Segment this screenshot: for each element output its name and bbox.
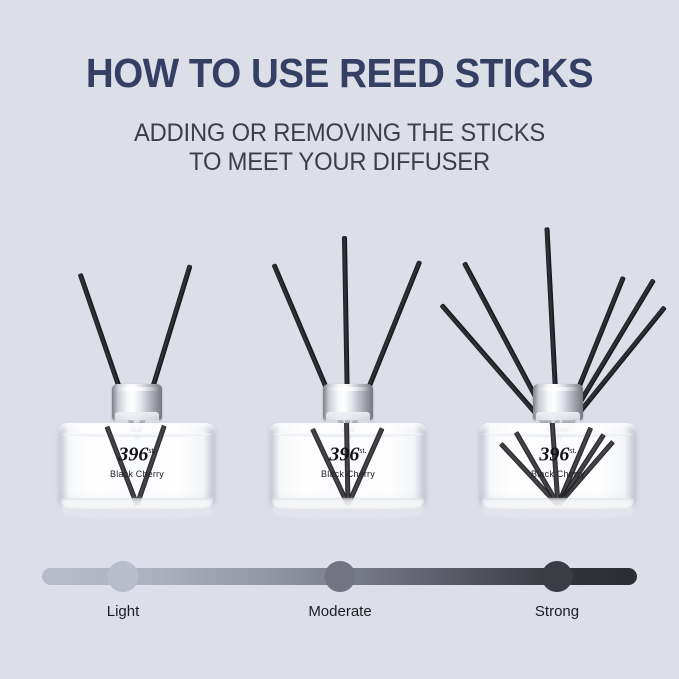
scale-knob-strong[interactable] (542, 561, 573, 592)
diffuser-bottle: 396st. Black Cherry (269, 417, 427, 521)
submerged-reed-stick (135, 425, 167, 506)
submerged-reed-stick (556, 440, 615, 507)
diffuser-bottle: 396st. Black Cherry (58, 417, 216, 521)
submerged-reed-stick (105, 426, 140, 506)
intensity-scale: Light Moderate Strong (0, 555, 679, 641)
bottle-reflection (483, 499, 633, 521)
page-title: HOW TO USE REED STICKS (20, 50, 658, 96)
bottle-body (269, 423, 427, 509)
subtitle-line-2: TO MEET YOUR DIFFUSER (17, 148, 662, 177)
bottle-body (479, 423, 637, 509)
subtitle-line-1: ADDING OR REMOVING THE STICKS (17, 119, 662, 148)
scale-knob-moderate[interactable] (325, 561, 356, 592)
diffuser-bottle: 396st. Black Cherry (479, 417, 637, 521)
bottle-reflection (273, 499, 423, 521)
scale-knob-light[interactable] (108, 561, 139, 592)
bottle-body (58, 423, 216, 509)
submerged-sticks-light (58, 423, 216, 509)
scale-label-light: Light (107, 603, 140, 620)
submerged-sticks-moderate (269, 423, 427, 509)
scale-label-strong: Strong (535, 603, 579, 620)
scale-label-moderate: Moderate (308, 603, 371, 620)
submerged-reed-stick (346, 427, 385, 506)
submerged-sticks-strong (479, 423, 637, 509)
page-subtitle: ADDING OR REMOVING THE STICKS TO MEET YO… (17, 119, 662, 177)
bottle-reflection (62, 499, 212, 521)
infographic-canvas: HOW TO USE REED STICKS ADDING OR REMOVIN… (0, 0, 679, 679)
